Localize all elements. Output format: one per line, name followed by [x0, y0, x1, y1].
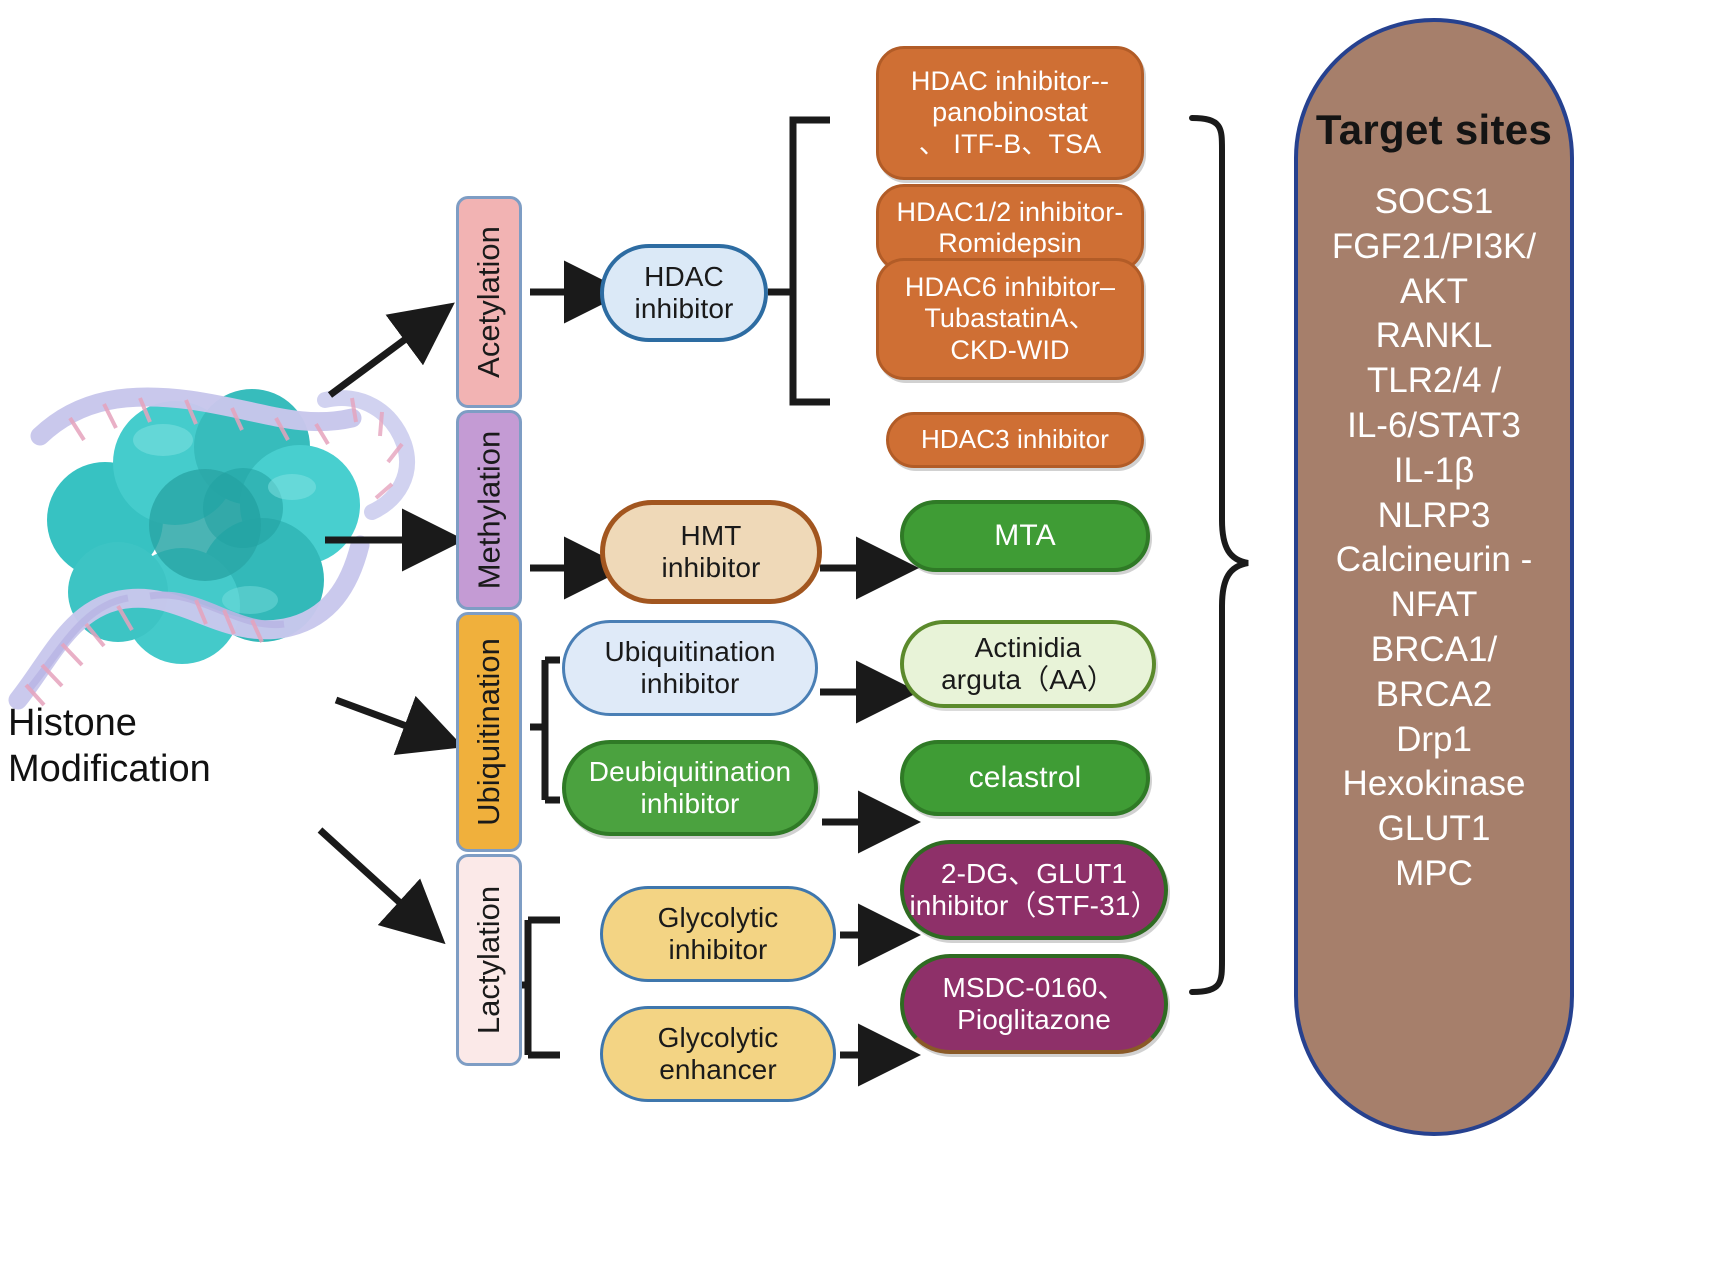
node-glycolytic-enhancer[interactable]: Glycolytic enhancer: [600, 1006, 836, 1102]
node-drug-celastrol[interactable]: celastrol: [900, 740, 1150, 816]
node-drug-actinidia[interactable]: Actinidia arguta（AA）: [900, 620, 1156, 708]
target-sites-list: SOCS1 FGF21/PI3K/ AKT RANKL TLR2/4 / IL-…: [1332, 180, 1536, 897]
modification-tab-ubiquitination[interactable]: Ubiquitination: [456, 612, 522, 852]
source-label: Histone Modification: [8, 700, 211, 793]
modification-label-acetylation: Acetylation: [471, 226, 507, 378]
node-glycolytic-inhibitor[interactable]: Glycolytic inhibitor: [600, 886, 836, 982]
modification-label-methylation: Methylation: [471, 431, 507, 590]
modification-tab-acetylation[interactable]: Acetylation: [456, 196, 522, 408]
node-drug-msdc[interactable]: MSDC-0160、 Pioglitazone: [900, 954, 1168, 1054]
node-ubiquitination-inhibitor[interactable]: Ubiquitination inhibitor: [562, 620, 818, 716]
node-hdac-inhibitor[interactable]: HDAC inhibitor: [600, 244, 768, 342]
target-sites-title: Target sites: [1316, 106, 1552, 154]
target-sites-panel: Target sites SOCS1 FGF21/PI3K/ AKT RANKL…: [1294, 18, 1574, 1136]
modification-label-lactylation: Lactylation: [471, 886, 507, 1034]
node-drug-2dg-glut1[interactable]: 2-DG、GLUT1 inhibitor（STF-31）: [900, 840, 1168, 940]
modification-tab-lactylation[interactable]: Lactylation: [456, 854, 522, 1066]
node-drug-tubastatin[interactable]: HDAC6 inhibitor– TubastatinA、 CKD-WID: [876, 258, 1144, 380]
node-drug-mta[interactable]: MTA: [900, 500, 1150, 572]
node-drug-panobinostat[interactable]: HDAC inhibitor-- panobinostat 、 ITF-B、TS…: [876, 46, 1144, 180]
node-drug-hdac3[interactable]: HDAC3 inhibitor: [886, 412, 1144, 468]
node-deubiquitination-inhibitor[interactable]: Deubiquitination inhibitor: [562, 740, 818, 836]
modification-label-ubiquitination: Ubiquitination: [471, 638, 507, 826]
node-hmt-inhibitor[interactable]: HMT inhibitor: [600, 500, 822, 604]
diagram-canvas: Histone Modification Acetylation Methyla…: [0, 0, 1724, 1277]
modification-tab-methylation[interactable]: Methylation: [456, 410, 522, 610]
